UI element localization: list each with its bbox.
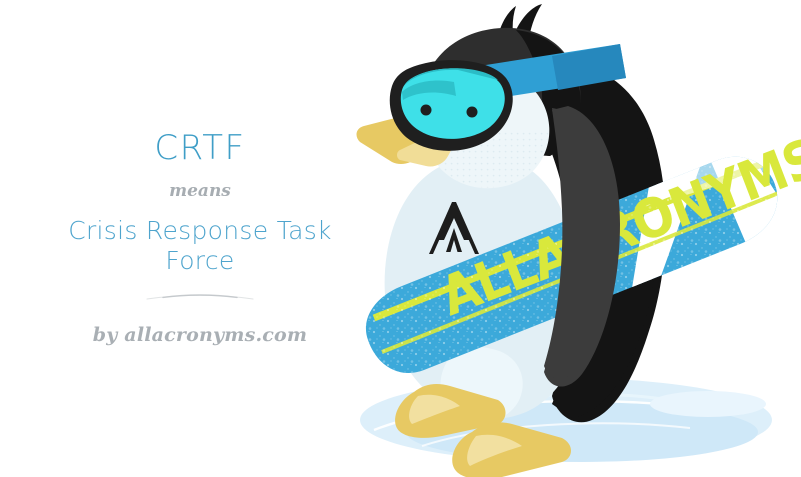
acronym-card: CRTF means Crisis Response Task Force by… (0, 0, 801, 477)
curved-divider (145, 290, 255, 302)
acronym-expansion: Crisis Response Task Force (40, 216, 360, 276)
snowboarding-penguin-illustration: ALLACRONYMS (330, 0, 801, 477)
